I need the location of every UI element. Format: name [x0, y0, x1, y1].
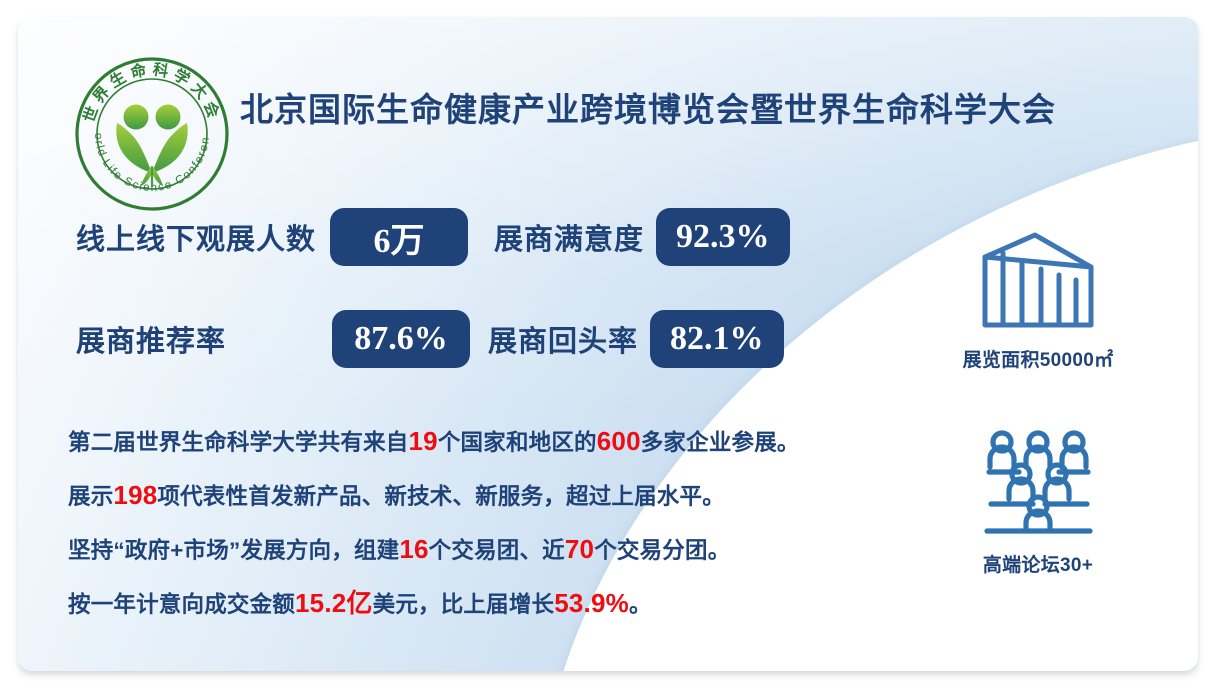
stat-label-recommendation: 展商推荐率 [76, 318, 226, 360]
fact-text: 多家企业参展。 [641, 430, 800, 455]
fact-highlight: 70 [565, 534, 594, 564]
facts-list: 第二届世界生命科学大学共有来自19个国家和地区的600多家企业参展。 展示198… [68, 415, 898, 631]
fact-text: 按一年计意向成交金额 [68, 592, 295, 617]
fact-line: 第二届世界生命科学大学共有来自19个国家和地区的600多家企业参展。 [68, 415, 898, 469]
fact-text: 展示 [68, 484, 113, 509]
stat-label-satisfaction: 展商满意度 [494, 216, 644, 258]
audience-forum-icon [981, 429, 1096, 539]
fact-highlight: 198 [113, 480, 157, 510]
fact-text: 个交易团、近 [429, 538, 565, 563]
fact-line: 按一年计意向成交金额15.2亿美元，比上届增长53.9%。 [68, 577, 898, 631]
fact-highlight: 19 [409, 426, 438, 456]
fact-text: 第二届世界生命科学大学共有来自 [68, 430, 409, 455]
fact-line: 坚持“政府+市场”发展方向，组建16个交易团、近70个交易分团。 [68, 523, 898, 577]
stat-label-return-rate: 展商回头率 [488, 318, 638, 360]
fact-text: 坚持“政府+市场”发展方向，组建 [68, 538, 399, 563]
stat-value-return-rate: 82.1% [650, 310, 784, 368]
stat-label-attendance: 线上线下观展人数 [76, 216, 316, 258]
forum-count-caption: 高端论坛30+ [933, 550, 1143, 577]
forum-count-block: 高端论坛30+ [933, 429, 1143, 577]
stats-row-1: 线上线下观展人数 6万 展商满意度 92.3% [76, 208, 790, 266]
fact-text: 美元，比上届增长 [373, 592, 555, 617]
infographic-canvas: 世界生命科学大会 World Life Science Conference 北… [0, 0, 1216, 691]
fact-highlight: 53.9% [554, 588, 629, 618]
fact-highlight: 16 [399, 534, 428, 564]
exhibition-area-caption: 展览面积50000㎡ [933, 345, 1143, 372]
fact-text: 。 [629, 592, 652, 617]
fact-text: 个国家和地区的 [438, 430, 597, 455]
stats-row-2: 展商推荐率 87.6% 展商回头率 82.1% [76, 310, 784, 368]
stat-value-attendance: 6万 [330, 208, 468, 266]
stat-value-recommendation: 87.6% [332, 310, 470, 368]
fact-line: 展示198项代表性首发新产品、新技术、新服务，超过上届水平。 [68, 469, 898, 523]
infographic-card: 世界生命科学大会 World Life Science Conference 北… [18, 17, 1198, 671]
page-title: 北京国际生命健康产业跨境博览会暨世界生命科学大会 [240, 83, 1056, 131]
fact-highlight: 600 [597, 426, 641, 456]
exhibition-area-block: 展览面积50000㎡ [933, 229, 1143, 372]
conference-logo: 世界生命科学大会 World Life Science Conference [73, 55, 231, 213]
fact-highlight: 15.2亿 [295, 588, 373, 618]
exhibition-hall-icon [973, 229, 1103, 334]
fact-text: 个交易分团。 [594, 538, 730, 563]
stat-value-satisfaction: 92.3% [656, 208, 790, 266]
fact-text: 项代表性首发新产品、新技术、新服务，超过上届水平。 [157, 484, 725, 509]
